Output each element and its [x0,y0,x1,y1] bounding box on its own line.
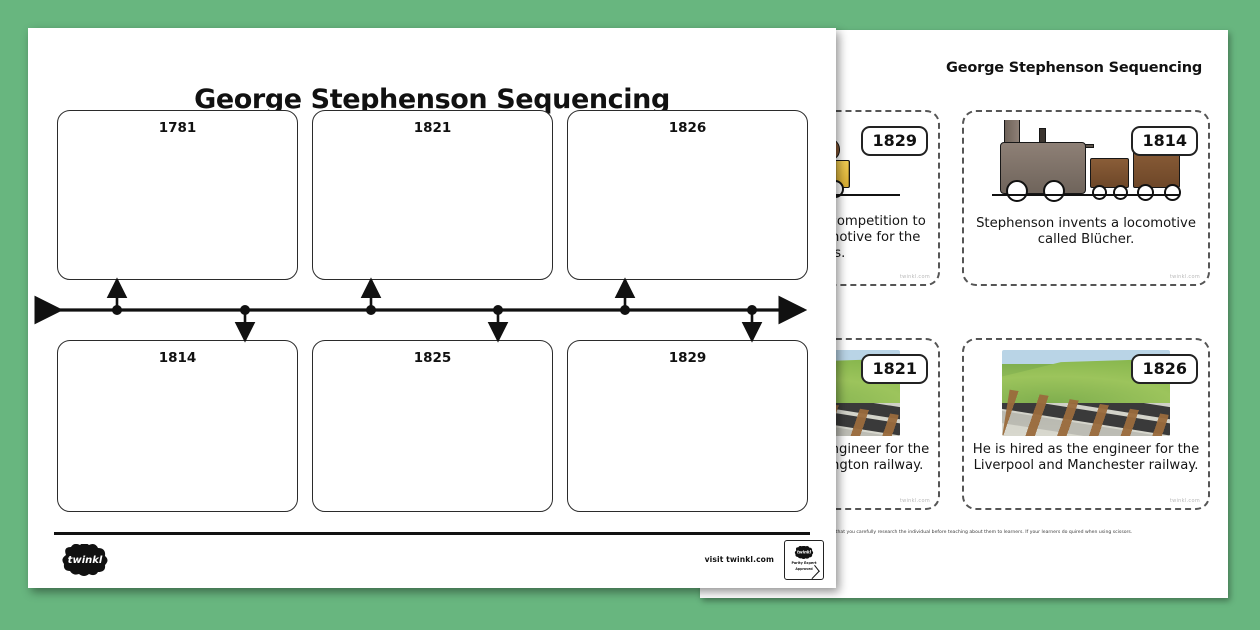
card-watermark: twinkl.com [900,498,930,504]
badge-twinkl-logo: twinkl [790,546,818,559]
card-watermark: twinkl.com [900,274,930,280]
card-caption-1814: Stephenson invents a locomotive called B… [972,216,1200,248]
screenshot-stage: George Stephenson Sequencing 1829 The Ro… [0,0,1260,630]
twinkl-logo[interactable]: twinkl [56,544,114,576]
slot-year-label: 1825 [313,350,552,366]
timeline-slot-top-1[interactable]: 1781 [57,110,298,280]
slot-year-label: 1829 [568,350,807,366]
slot-year-label: 1781 [58,120,297,136]
slot-year-label: 1821 [313,120,552,136]
timeline-slot-top-2[interactable]: 1821 [312,110,553,280]
cut-card-1826[interactable]: 1826 He is hired as the engineer for the… [962,338,1210,510]
timeline-slot-top-3[interactable]: 1826 [567,110,808,280]
timeline-slot-bottom-2[interactable]: 1825 [312,340,553,512]
badge-line-1: Parity Expert [785,561,823,565]
svg-text:twinkl: twinkl [797,550,812,555]
left-page-worksheet: George Stephenson Sequencing 1781 1821 1… [28,28,836,588]
card-caption-1826: He is hired as the engineer for the Live… [972,442,1200,474]
footer-divider [54,532,810,535]
svg-text:twinkl: twinkl [68,555,103,566]
card-year-badge-1821: 1821 [861,354,928,384]
card-year-badge-1829: 1829 [861,126,928,156]
card-year-badge-1814: 1814 [1131,126,1198,156]
cut-card-1814[interactable]: 1814 Stephenson invents a locomotive cal… [962,110,1210,286]
card-year-badge-1826: 1826 [1131,354,1198,384]
slot-year-label: 1814 [58,350,297,366]
card-watermark: twinkl.com [1170,498,1200,504]
timeline-slot-bottom-1[interactable]: 1814 [57,340,298,512]
card-watermark: twinkl.com [1170,274,1200,280]
slot-year-label: 1826 [568,120,807,136]
visit-twinkl-link[interactable]: visit twinkl.com [705,555,774,564]
twinkl-parity-badge: twinkl Parity Expert Approved [784,540,824,580]
timeline-slot-bottom-3[interactable]: 1829 [567,340,808,512]
